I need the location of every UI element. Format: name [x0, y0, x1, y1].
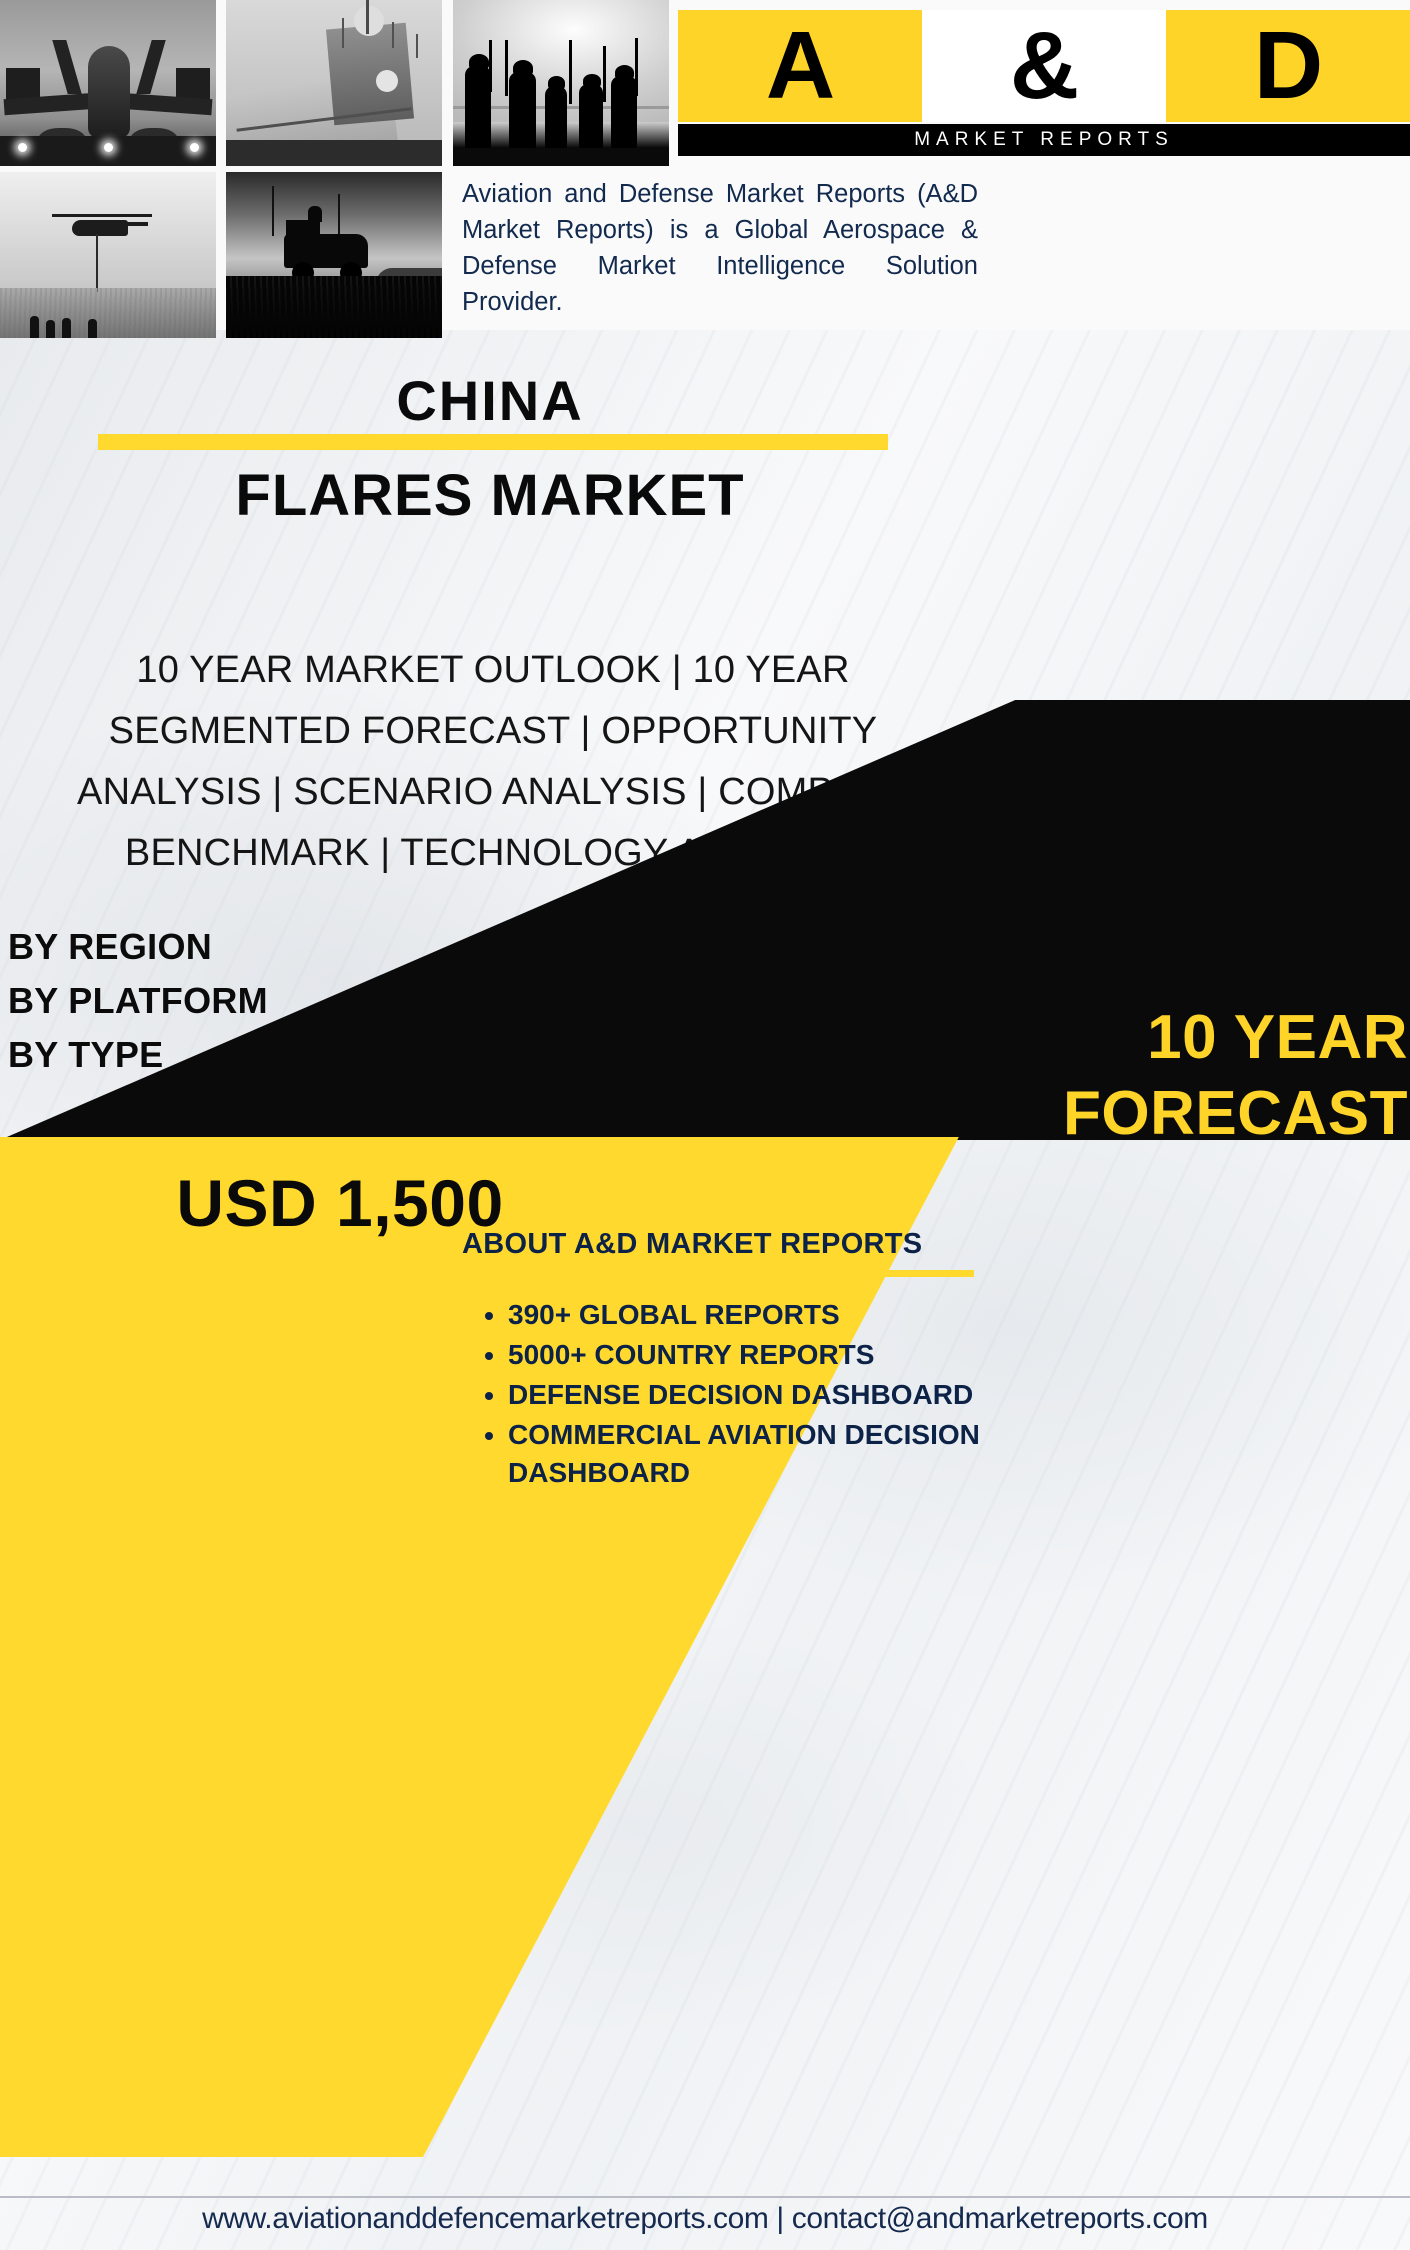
photo-fighter-jet-on-carrier-deck — [0, 0, 216, 166]
photo-aircraft-carrier-superstructure — [226, 0, 442, 166]
about-heading-underline — [462, 1270, 974, 1277]
brand-logo: A & D MARKET REPORTS — [678, 6, 1410, 156]
segment-item-platform: BY PLATFORM — [8, 974, 268, 1028]
segment-item-region: BY REGION — [8, 920, 268, 974]
footer-divider — [0, 2196, 1410, 2198]
company-intro-text: Aviation and Defense Market Reports (A&D… — [462, 176, 978, 320]
list-item: DEFENSE DECISION DASHBOARD — [508, 1376, 1028, 1414]
marketing-poster: A & D MARKET REPORTS Aviation and Defens… — [0, 0, 1410, 2250]
photo-helicopter-over-field — [0, 172, 216, 338]
logo-letter-d: D — [1166, 10, 1410, 122]
photo-soldiers-silhouette — [453, 0, 669, 166]
logo-tagline-bar: MARKET REPORTS — [678, 124, 1410, 156]
page-title-market: FLARES MARKET — [0, 462, 980, 529]
logo-letters: A & D — [678, 10, 1410, 122]
about-section-heading: ABOUT A&D MARKET REPORTS — [462, 1228, 982, 1261]
list-item: 390+ GLOBAL REPORTS — [508, 1296, 1028, 1334]
photo-armored-vehicle-at-dusk — [226, 172, 442, 338]
logo-letter-a: A — [678, 10, 922, 122]
list-item: COMMERCIAL AVIATION DECISION DASHBOARD — [508, 1416, 1028, 1492]
title-divider-rule — [98, 434, 888, 450]
footer-contact-text[interactable]: www.aviationanddefencemarketreports.com … — [0, 2202, 1410, 2236]
forecast-badge-text: 10 YEAR FORECAST — [688, 1000, 1408, 1152]
logo-tagline: MARKET REPORTS — [914, 129, 1174, 151]
page-title-country: CHINA — [0, 368, 980, 433]
list-item: 5000+ COUNTRY REPORTS — [508, 1336, 1028, 1374]
logo-letter-ampersand: & — [922, 10, 1166, 122]
about-bullet-list: 390+ GLOBAL REPORTS 5000+ COUNTRY REPORT… — [470, 1296, 1028, 1494]
forecast-badge-line1: 10 YEAR — [688, 1000, 1408, 1076]
